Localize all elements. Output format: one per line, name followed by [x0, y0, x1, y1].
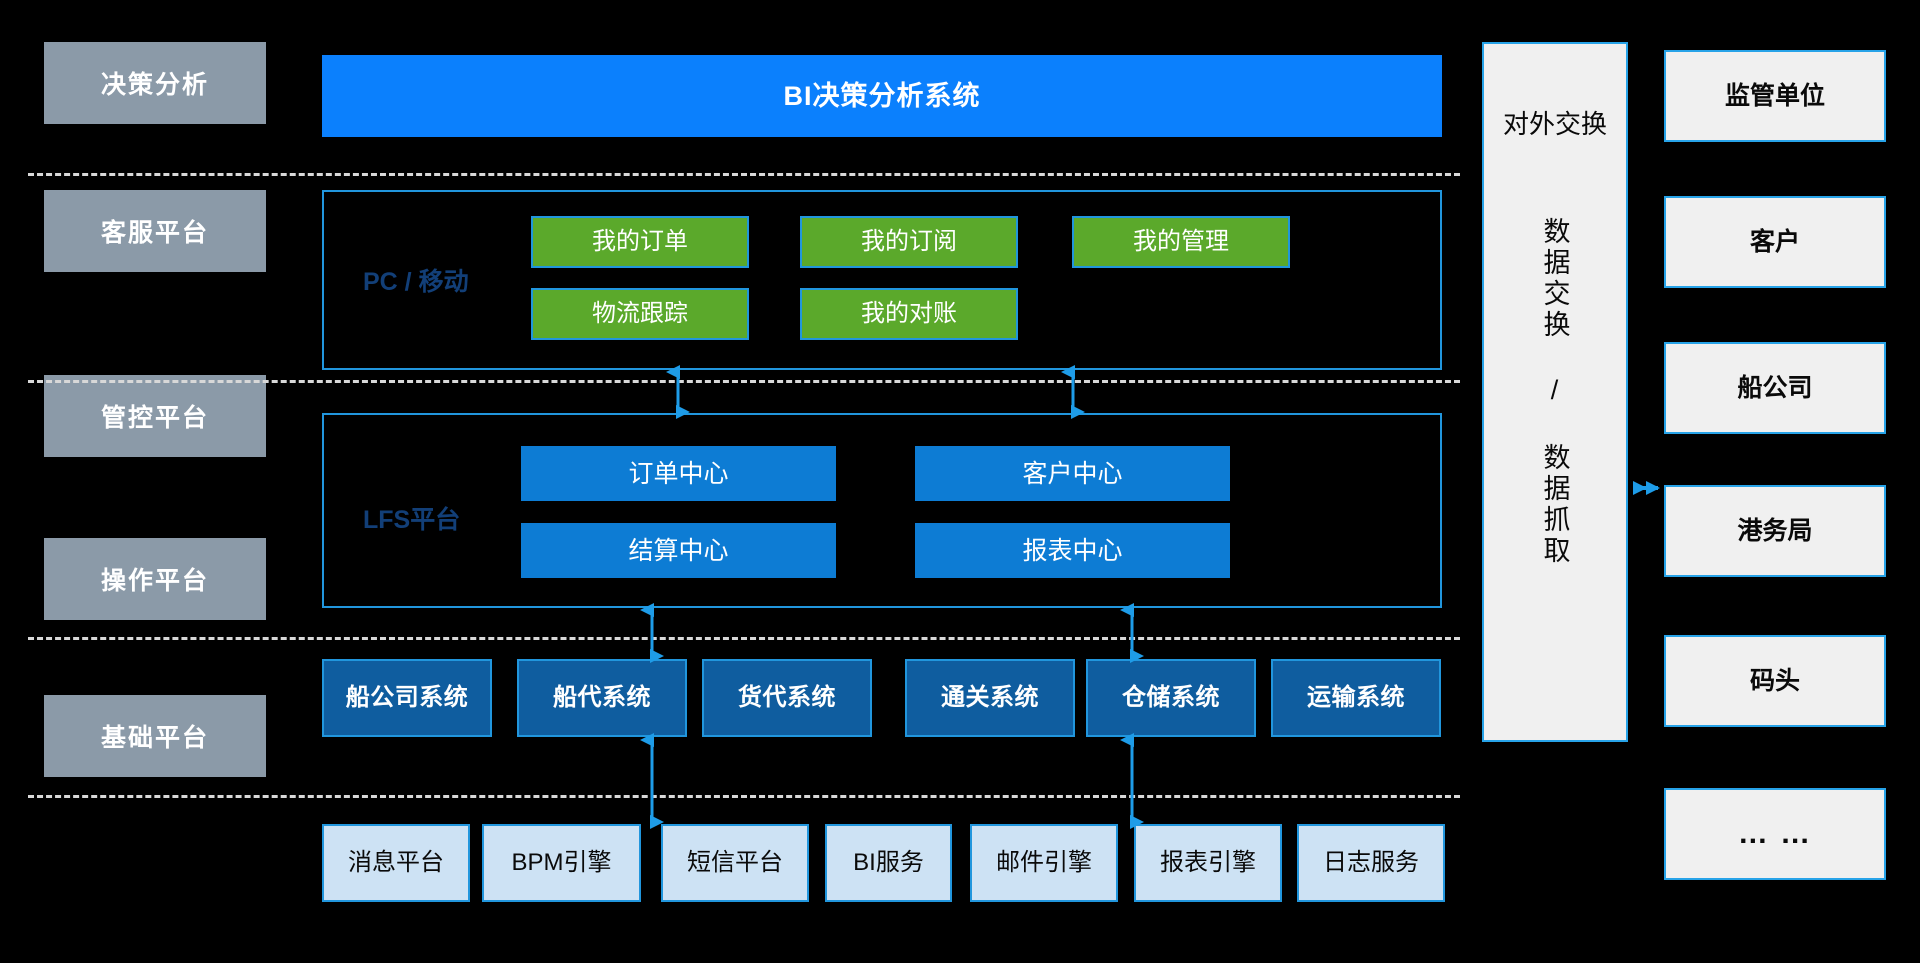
service-item-my-subscriptions[interactable]: 我的订阅 — [800, 216, 1018, 268]
ops-item-warehouse-system[interactable]: 仓储系统 — [1086, 659, 1256, 737]
layer-label-text: 决策分析 — [101, 65, 209, 101]
node-label: 邮件引擎 — [996, 849, 1092, 878]
node-label: 船代系统 — [553, 684, 651, 713]
node-label: 我的对账 — [861, 300, 957, 329]
control-item-order-center[interactable]: 订单中心 — [521, 446, 836, 501]
control-item-report-center[interactable]: 报表中心 — [915, 523, 1230, 578]
node-label: 监管单位 — [1725, 81, 1825, 111]
node-label: 我的管理 — [1133, 228, 1229, 257]
node-label: 我的订单 — [592, 228, 688, 257]
ops-item-shipping-agent-system[interactable]: 船代系统 — [517, 659, 687, 737]
service-item-my-management[interactable]: 我的管理 — [1072, 216, 1290, 268]
layer-label-text: 操作平台 — [101, 561, 209, 597]
service-item-my-reconciliation[interactable]: 我的对账 — [800, 288, 1018, 340]
divider-4 — [28, 795, 1460, 798]
external-party-others[interactable]: … … — [1664, 788, 1886, 880]
node-label: 结算中心 — [628, 536, 728, 566]
base-item-bi-service[interactable]: BI服务 — [825, 824, 952, 902]
node-label: 日志服务 — [1323, 849, 1419, 878]
node-label: 我的订阅 — [861, 228, 957, 257]
external-party-regulator[interactable]: 监管单位 — [1664, 50, 1886, 142]
layer-label-decision: 决策分析 — [44, 42, 266, 124]
base-item-sms-platform[interactable]: 短信平台 — [661, 824, 809, 902]
exchange-vertical-label: 数据交换 / 数据抓取 — [1484, 44, 1626, 740]
control-layer-group — [322, 413, 1442, 608]
layer-label-service: 客服平台 — [44, 190, 266, 272]
node-label: 物流跟踪 — [592, 300, 688, 329]
bi-banner-label: BI决策分析系统 — [784, 80, 981, 112]
external-party-terminal[interactable]: 码头 — [1664, 635, 1886, 727]
node-label: 运输系统 — [1307, 684, 1405, 713]
node-label: 报表中心 — [1022, 536, 1122, 566]
control-layer-caption: LFS平台 — [363, 500, 460, 536]
layer-label-operation: 操作平台 — [44, 538, 266, 620]
node-label: 消息平台 — [348, 849, 444, 878]
base-item-bpm-engine[interactable]: BPM引擎 — [482, 824, 641, 902]
layer-label-text: 管控平台 — [101, 398, 209, 434]
external-party-shipping-company[interactable]: 船公司 — [1664, 342, 1886, 434]
ops-item-freight-forwarder-system[interactable]: 货代系统 — [702, 659, 872, 737]
base-item-log-service[interactable]: 日志服务 — [1297, 824, 1445, 902]
layer-label-base: 基础平台 — [44, 695, 266, 777]
node-label: … … — [1738, 816, 1812, 852]
node-label: 货代系统 — [738, 684, 836, 713]
layer-label-text: 基础平台 — [101, 718, 209, 754]
divider-2 — [28, 380, 1460, 383]
bi-decision-banner[interactable]: BI决策分析系统 — [322, 55, 1442, 137]
control-item-customer-center[interactable]: 客户中心 — [915, 446, 1230, 501]
node-label: 订单中心 — [628, 459, 728, 489]
node-label: 通关系统 — [941, 684, 1039, 713]
node-label: 港务局 — [1737, 516, 1812, 546]
ops-item-transport-system[interactable]: 运输系统 — [1271, 659, 1441, 737]
node-label: 码头 — [1750, 666, 1800, 696]
ops-item-shipping-company-system[interactable]: 船公司系统 — [322, 659, 492, 737]
node-label: BPM引擎 — [511, 849, 611, 878]
external-party-port-authority[interactable]: 港务局 — [1664, 485, 1886, 577]
node-label: 客户 — [1750, 227, 1800, 257]
divider-1 — [28, 173, 1460, 176]
node-label: 短信平台 — [687, 849, 783, 878]
node-label: 船公司 — [1737, 373, 1812, 403]
node-label: BI服务 — [853, 849, 924, 878]
external-party-customer[interactable]: 客户 — [1664, 196, 1886, 288]
layer-label-text: 客服平台 — [101, 213, 209, 249]
service-item-logistics-tracking[interactable]: 物流跟踪 — [531, 288, 749, 340]
node-label: 船公司系统 — [346, 684, 469, 713]
node-label: 报表引擎 — [1160, 849, 1256, 878]
divider-3 — [28, 637, 1460, 640]
node-label: 客户中心 — [1022, 459, 1122, 489]
base-item-report-engine[interactable]: 报表引擎 — [1134, 824, 1282, 902]
base-item-mail-engine[interactable]: 邮件引擎 — [970, 824, 1118, 902]
base-item-message-platform[interactable]: 消息平台 — [322, 824, 470, 902]
layer-label-control: 管控平台 — [44, 375, 266, 457]
data-exchange-column[interactable]: 对外交换 数据交换 / 数据抓取 — [1482, 42, 1628, 742]
ops-item-customs-system[interactable]: 通关系统 — [905, 659, 1075, 737]
service-layer-caption: PC / 移动 — [363, 262, 469, 298]
architecture-diagram: 决策分析 客服平台 管控平台 操作平台 基础平台 BI决策分析系统 PC / 移… — [0, 0, 1920, 963]
service-item-my-orders[interactable]: 我的订单 — [531, 216, 749, 268]
node-label: 仓储系统 — [1122, 684, 1220, 713]
control-item-settlement-center[interactable]: 结算中心 — [521, 523, 836, 578]
